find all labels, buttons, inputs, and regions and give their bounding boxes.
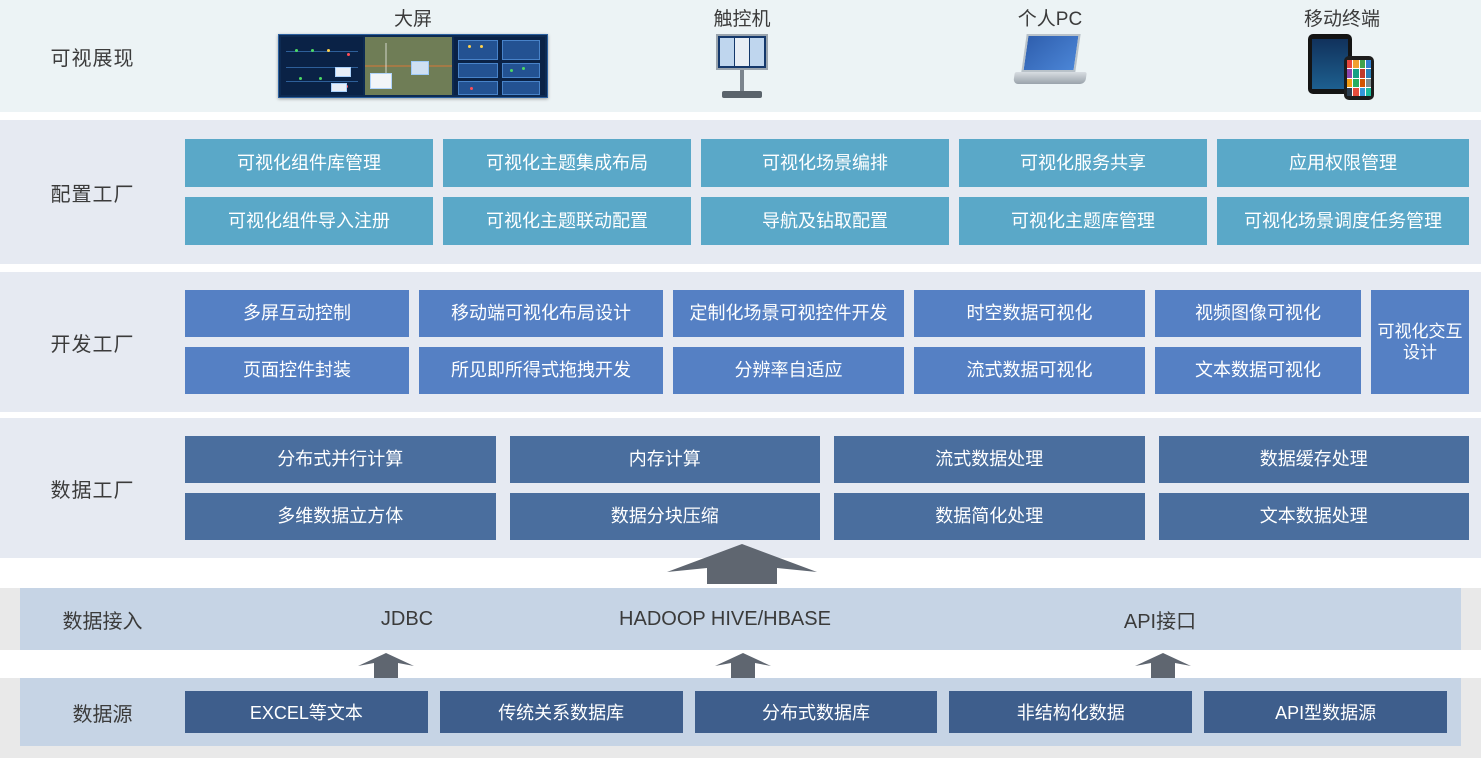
config-column-2: 可视化主题集成布局 可视化主题联动配置	[443, 139, 691, 245]
data-source-cell-distributed-db[interactable]: 分布式数据库	[695, 691, 938, 733]
mobile-devices-icon	[1304, 34, 1380, 100]
data-source-cell-api-datasource[interactable]: API型数据源	[1204, 691, 1447, 733]
visual-presentation-row: 可视展现 大屏	[0, 0, 1481, 112]
data-column-2: 内存计算 数据分块压缩	[510, 436, 821, 540]
video-wall-icon	[278, 34, 548, 98]
data-column-1: 分布式并行计算 多维数据立方体	[185, 436, 496, 540]
config-cell-app-permission-mgmt[interactable]: 应用权限管理	[1217, 139, 1469, 187]
config-cell-theme-integration-layout[interactable]: 可视化主题集成布局	[443, 139, 691, 187]
data-access-items: JDBC HADOOP HIVE/HBASE API接口	[185, 588, 1461, 650]
data-factory-grid: 分布式并行计算 多维数据立方体 内存计算 数据分块压缩 流式数据处理 数据简化处…	[185, 436, 1481, 540]
config-cell-service-sharing[interactable]: 可视化服务共享	[959, 139, 1207, 187]
visual-presentation-label: 可视展现	[0, 42, 185, 71]
dev-cell-multiscreen-interaction[interactable]: 多屏互动控制	[185, 290, 409, 337]
config-cell-scene-schedule-task-mgmt[interactable]: 可视化场景调度任务管理	[1217, 197, 1469, 245]
data-source-row: 数据源 EXCEL等文本 传统关系数据库 分布式数据库 非结构化数据 API型数…	[0, 678, 1481, 758]
dev-cell-stream-data-visualization[interactable]: 流式数据可视化	[914, 347, 1145, 394]
data-access-item-hadoop[interactable]: HADOOP HIVE/HBASE	[580, 588, 870, 650]
config-cell-navigation-drilldown[interactable]: 导航及钻取配置	[701, 197, 949, 245]
data-source-cell-unstructured-data[interactable]: 非结构化数据	[949, 691, 1192, 733]
dev-factory-label: 开发工厂	[0, 328, 185, 357]
data-source-items: EXCEL等文本 传统关系数据库 分布式数据库 非结构化数据 API型数据源	[185, 691, 1461, 733]
device-caption-laptop: 个人PC	[1018, 4, 1082, 31]
device-caption-video-wall: 大屏	[394, 4, 432, 31]
config-cell-theme-library-mgmt[interactable]: 可视化主题库管理	[959, 197, 1207, 245]
dev-cell-custom-scene-widget-dev[interactable]: 定制化场景可视控件开发	[673, 290, 904, 337]
dev-cell-text-data-visualization[interactable]: 文本数据可视化	[1155, 347, 1361, 394]
data-cell-multidimensional-cube[interactable]: 多维数据立方体	[185, 493, 496, 540]
config-factory-grid: 可视化组件库管理 可视化组件导入注册 可视化主题集成布局 可视化主题联动配置 可…	[185, 139, 1481, 245]
device-touch-kiosk: 触控机	[706, 0, 778, 112]
dev-cell-wysiwyg-drag-development[interactable]: 所见即所得式拖拽开发	[419, 347, 663, 394]
dev-cell-interaction-design[interactable]: 可视化交互设计	[1371, 290, 1469, 394]
data-column-4: 数据缓存处理 文本数据处理	[1159, 436, 1470, 540]
dev-column-4: 时空数据可视化 流式数据可视化	[914, 290, 1145, 394]
config-factory-label: 配置工厂	[0, 178, 185, 207]
laptop-icon	[1012, 34, 1088, 90]
data-cell-stream-data-processing[interactable]: 流式数据处理	[834, 436, 1145, 483]
data-cell-data-cache-processing[interactable]: 数据缓存处理	[1159, 436, 1470, 483]
dev-cell-mobile-layout-design[interactable]: 移动端可视化布局设计	[419, 290, 663, 337]
up-arrow-small-icon-1	[358, 652, 414, 678]
config-cell-component-import-register[interactable]: 可视化组件导入注册	[185, 197, 433, 245]
config-cell-component-library-mgmt[interactable]: 可视化组件库管理	[185, 139, 433, 187]
dev-column-2: 移动端可视化布局设计 所见即所得式拖拽开发	[419, 290, 663, 394]
data-access-item-jdbc[interactable]: JDBC	[332, 588, 482, 650]
up-arrow-small-icon-3	[1135, 652, 1191, 678]
dev-column-1: 多屏互动控制 页面控件封装	[185, 290, 409, 394]
dev-cell-page-widget-encapsulation[interactable]: 页面控件封装	[185, 347, 409, 394]
config-cell-scene-arrangement[interactable]: 可视化场景编排	[701, 139, 949, 187]
data-source-label: 数据源	[20, 698, 185, 727]
data-source-band: 数据源 EXCEL等文本 传统关系数据库 分布式数据库 非结构化数据 API型数…	[20, 678, 1461, 746]
up-arrow-icon	[667, 542, 817, 584]
architecture-diagram: 可视展现 大屏	[0, 0, 1481, 758]
data-factory-label: 数据工厂	[0, 474, 185, 503]
dev-factory-row: 开发工厂 多屏互动控制 页面控件封装 移动端可视化布局设计 所见即所得式拖拽开发…	[0, 272, 1481, 412]
data-cell-in-memory-compute[interactable]: 内存计算	[510, 436, 821, 483]
config-column-1: 可视化组件库管理 可视化组件导入注册	[185, 139, 433, 245]
config-cell-theme-linkage-config[interactable]: 可视化主题联动配置	[443, 197, 691, 245]
dev-column-3: 定制化场景可视控件开发 分辨率自适应	[673, 290, 904, 394]
data-access-row: 数据接入 JDBC HADOOP HIVE/HBASE API接口	[0, 588, 1481, 650]
data-access-label: 数据接入	[20, 605, 185, 634]
dev-factory-grid: 多屏互动控制 页面控件封装 移动端可视化布局设计 所见即所得式拖拽开发 定制化场…	[185, 290, 1481, 394]
data-source-cell-excel-text[interactable]: EXCEL等文本	[185, 691, 428, 733]
dev-column-5: 视频图像可视化 文本数据可视化	[1155, 290, 1361, 394]
dev-cell-spatiotemporal-visualization[interactable]: 时空数据可视化	[914, 290, 1145, 337]
data-column-3: 流式数据处理 数据简化处理	[834, 436, 1145, 540]
data-source-cell-relational-db[interactable]: 传统关系数据库	[440, 691, 683, 733]
up-arrow-small-icon-2	[715, 652, 771, 678]
device-mobile: 移动终端	[1302, 0, 1382, 112]
device-caption-mobile: 移动终端	[1304, 4, 1380, 31]
data-cell-data-simplification[interactable]: 数据简化处理	[834, 493, 1145, 540]
data-cell-text-data-processing[interactable]: 文本数据处理	[1159, 493, 1470, 540]
config-column-3: 可视化场景编排 导航及钻取配置	[701, 139, 949, 245]
data-cell-data-block-compression[interactable]: 数据分块压缩	[510, 493, 821, 540]
data-access-item-api[interactable]: API接口	[1075, 588, 1245, 650]
device-caption-touch-kiosk: 触控机	[713, 4, 770, 31]
device-laptop: 个人PC	[1012, 0, 1088, 112]
config-column-4: 可视化服务共享 可视化主题库管理	[959, 139, 1207, 245]
config-factory-row: 配置工厂 可视化组件库管理 可视化组件导入注册 可视化主题集成布局 可视化主题联…	[0, 120, 1481, 264]
data-factory-row: 数据工厂 分布式并行计算 多维数据立方体 内存计算 数据分块压缩 流式数据处理 …	[0, 418, 1481, 558]
touch-kiosk-icon	[714, 34, 770, 100]
dev-cell-video-image-visualization[interactable]: 视频图像可视化	[1155, 290, 1361, 337]
device-video-wall: 大屏	[278, 0, 548, 112]
dev-cell-resolution-adaptive[interactable]: 分辨率自适应	[673, 347, 904, 394]
config-column-5: 应用权限管理 可视化场景调度任务管理	[1217, 139, 1469, 245]
data-cell-distributed-parallel-compute[interactable]: 分布式并行计算	[185, 436, 496, 483]
data-access-band: 数据接入 JDBC HADOOP HIVE/HBASE API接口	[20, 588, 1461, 650]
